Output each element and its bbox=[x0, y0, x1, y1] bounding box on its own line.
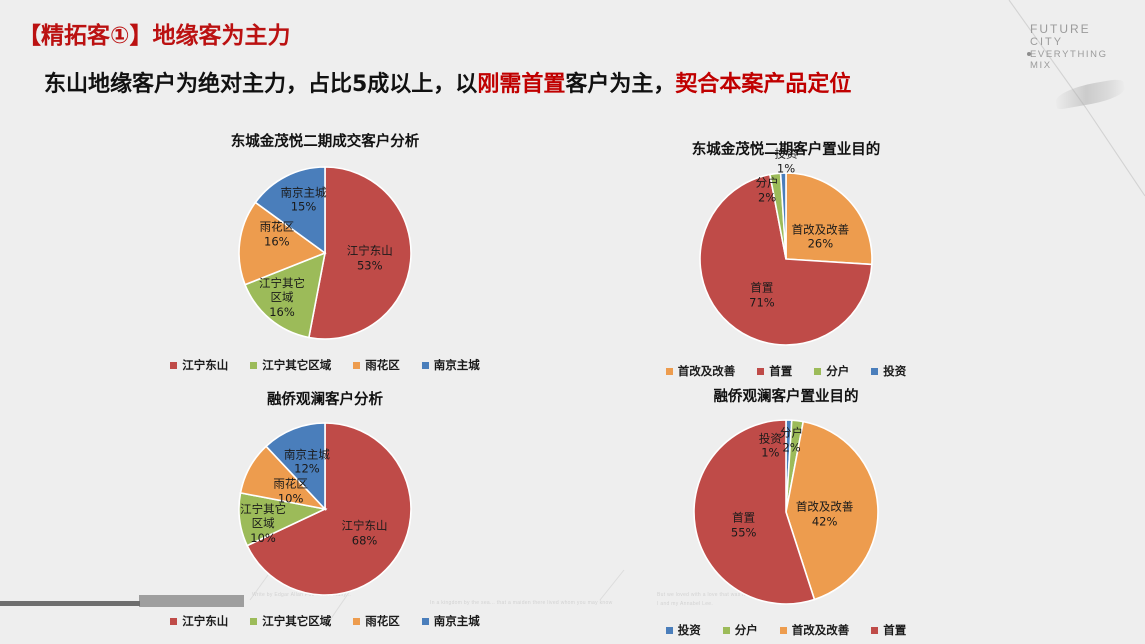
legend-swatch-icon bbox=[814, 368, 821, 375]
legend-label: 江宁其它区域 bbox=[262, 613, 331, 629]
pie-svg bbox=[600, 406, 972, 622]
legend-item[interactable]: 江宁其它区域 bbox=[250, 613, 331, 629]
pie-svg bbox=[139, 409, 511, 613]
chart-dongcheng-customer-analysis: 东城金茂悦二期成交客户分析 江宁东山53%江宁其它区域16%雨花区16%南京主城… bbox=[139, 130, 511, 373]
chart-title: 融侨观澜客户分析 bbox=[139, 388, 511, 409]
legend-label: 江宁东山 bbox=[182, 613, 228, 629]
chart-dongcheng-purchase-purpose: 东城金茂悦二期客户置业目的 首改及改善26%首置71%分户2%投资1% 首改及改… bbox=[600, 138, 972, 379]
legend-swatch-icon bbox=[353, 362, 360, 369]
watermark-line-3: EVERYTHING bbox=[1030, 49, 1135, 60]
watermark-feather-icon bbox=[1054, 78, 1126, 110]
subtitle-part-3: 客户为主， bbox=[565, 72, 675, 97]
legend-label: 首置 bbox=[769, 363, 792, 379]
legend-label: 分户 bbox=[826, 363, 849, 379]
legend-label: 江宁其它区域 bbox=[262, 357, 331, 373]
legend-swatch-icon bbox=[757, 368, 764, 375]
legend-swatch-icon bbox=[422, 362, 429, 369]
legend-label: 投资 bbox=[883, 363, 906, 379]
page-title: 【精拓客①】地缘客为主力 bbox=[18, 16, 290, 50]
legend-item[interactable]: 雨花区 bbox=[353, 613, 400, 629]
pie-area: 首改及改善26%首置71%分户2%投资1% bbox=[600, 159, 972, 363]
legend-item[interactable]: 分户 bbox=[723, 622, 758, 638]
watermark-line-1: FUTURE bbox=[1030, 22, 1135, 36]
legend-label: 首改及改善 bbox=[678, 363, 736, 379]
watermark-line-2: CITY bbox=[1030, 36, 1135, 49]
legend-swatch-icon bbox=[250, 362, 257, 369]
watermark-logo: FUTURE CITY EVERYTHING MIX bbox=[1030, 22, 1135, 72]
legend-item[interactable]: 南京主城 bbox=[422, 613, 480, 629]
legend-swatch-icon bbox=[666, 368, 673, 375]
chart-rongqiao-customer-analysis: 融侨观澜客户分析 江宁东山68%江宁其它区域10%雨花区10%南京主城12% 江… bbox=[139, 388, 511, 629]
subtitle-part-1: 东山地缘客户为绝对主力，占比5成以上，以 bbox=[44, 72, 477, 97]
legend-item[interactable]: 首改及改善 bbox=[666, 363, 736, 379]
subtitle-part-2: 刚需首置 bbox=[477, 72, 565, 97]
decorative-grey-bar-2 bbox=[0, 601, 140, 606]
legend-item[interactable]: 首置 bbox=[757, 363, 792, 379]
legend-item[interactable]: 南京主城 bbox=[422, 357, 480, 373]
legend-item[interactable]: 江宁东山 bbox=[170, 613, 228, 629]
chart-title: 东城金茂悦二期客户置业目的 bbox=[600, 138, 972, 159]
legend-label: 雨花区 bbox=[365, 357, 400, 373]
pie-area: 投资1%分户2%首改及改善42%首置55% bbox=[600, 406, 972, 622]
legend-label: 雨花区 bbox=[365, 613, 400, 629]
legend-label: 江宁东山 bbox=[182, 357, 228, 373]
pie-area: 江宁东山53%江宁其它区域16%雨花区16%南京主城15% bbox=[139, 151, 511, 357]
page-title-text: 【精拓客①】地缘客为主力 bbox=[18, 23, 290, 49]
chart-legend: 投资分户首改及改善首置 bbox=[600, 622, 972, 638]
legend-swatch-icon bbox=[666, 627, 673, 634]
legend-swatch-icon bbox=[170, 362, 177, 369]
legend-label: 分户 bbox=[735, 622, 758, 638]
chart-legend: 首改及改善首置分户投资 bbox=[600, 363, 972, 379]
legend-swatch-icon bbox=[780, 627, 787, 634]
legend-swatch-icon bbox=[871, 627, 878, 634]
legend-swatch-icon bbox=[871, 368, 878, 375]
legend-swatch-icon bbox=[723, 627, 730, 634]
pie-slice[interactable] bbox=[786, 173, 872, 264]
legend-label: 首置 bbox=[883, 622, 906, 638]
subtitle-part-4: 契合本案产品定位 bbox=[675, 72, 851, 97]
chart-rongqiao-purchase-purpose: 融侨观澜客户置业目的 投资1%分户2%首改及改善42%首置55% 投资分户首改及… bbox=[600, 385, 972, 638]
legend-item[interactable]: 投资 bbox=[666, 622, 701, 638]
legend-swatch-icon bbox=[250, 618, 257, 625]
watermark-line-4: MIX bbox=[1030, 60, 1135, 71]
chart-legend: 江宁东山江宁其它区域雨花区南京主城 bbox=[139, 357, 511, 373]
pie-svg bbox=[139, 151, 511, 357]
chart-title: 东城金茂悦二期成交客户分析 bbox=[139, 130, 511, 151]
legend-swatch-icon bbox=[422, 618, 429, 625]
watermark-dot-icon bbox=[1027, 52, 1031, 56]
legend-item[interactable]: 分户 bbox=[814, 363, 849, 379]
legend-item[interactable]: 雨花区 bbox=[353, 357, 400, 373]
legend-item[interactable]: 江宁其它区域 bbox=[250, 357, 331, 373]
legend-item[interactable]: 首改及改善 bbox=[780, 622, 850, 638]
chart-legend: 江宁东山江宁其它区域雨花区南京主城 bbox=[139, 613, 511, 629]
legend-label: 南京主城 bbox=[434, 357, 480, 373]
legend-swatch-icon bbox=[170, 618, 177, 625]
page-subtitle: 东山地缘客户为绝对主力，占比5成以上，以刚需首置客户为主，契合本案产品定位 bbox=[44, 66, 851, 98]
legend-item[interactable]: 江宁东山 bbox=[170, 357, 228, 373]
pie-area: 江宁东山68%江宁其它区域10%雨花区10%南京主城12% bbox=[139, 409, 511, 613]
legend-item[interactable]: 首置 bbox=[871, 622, 906, 638]
legend-label: 首改及改善 bbox=[792, 622, 850, 638]
slide-canvas: FUTURE CITY EVERYTHING MIX Write by Edga… bbox=[0, 0, 1145, 644]
pie-svg bbox=[600, 159, 972, 363]
legend-label: 南京主城 bbox=[434, 613, 480, 629]
legend-swatch-icon bbox=[353, 618, 360, 625]
legend-item[interactable]: 投资 bbox=[871, 363, 906, 379]
chart-title: 融侨观澜客户置业目的 bbox=[600, 385, 972, 406]
legend-label: 投资 bbox=[678, 622, 701, 638]
